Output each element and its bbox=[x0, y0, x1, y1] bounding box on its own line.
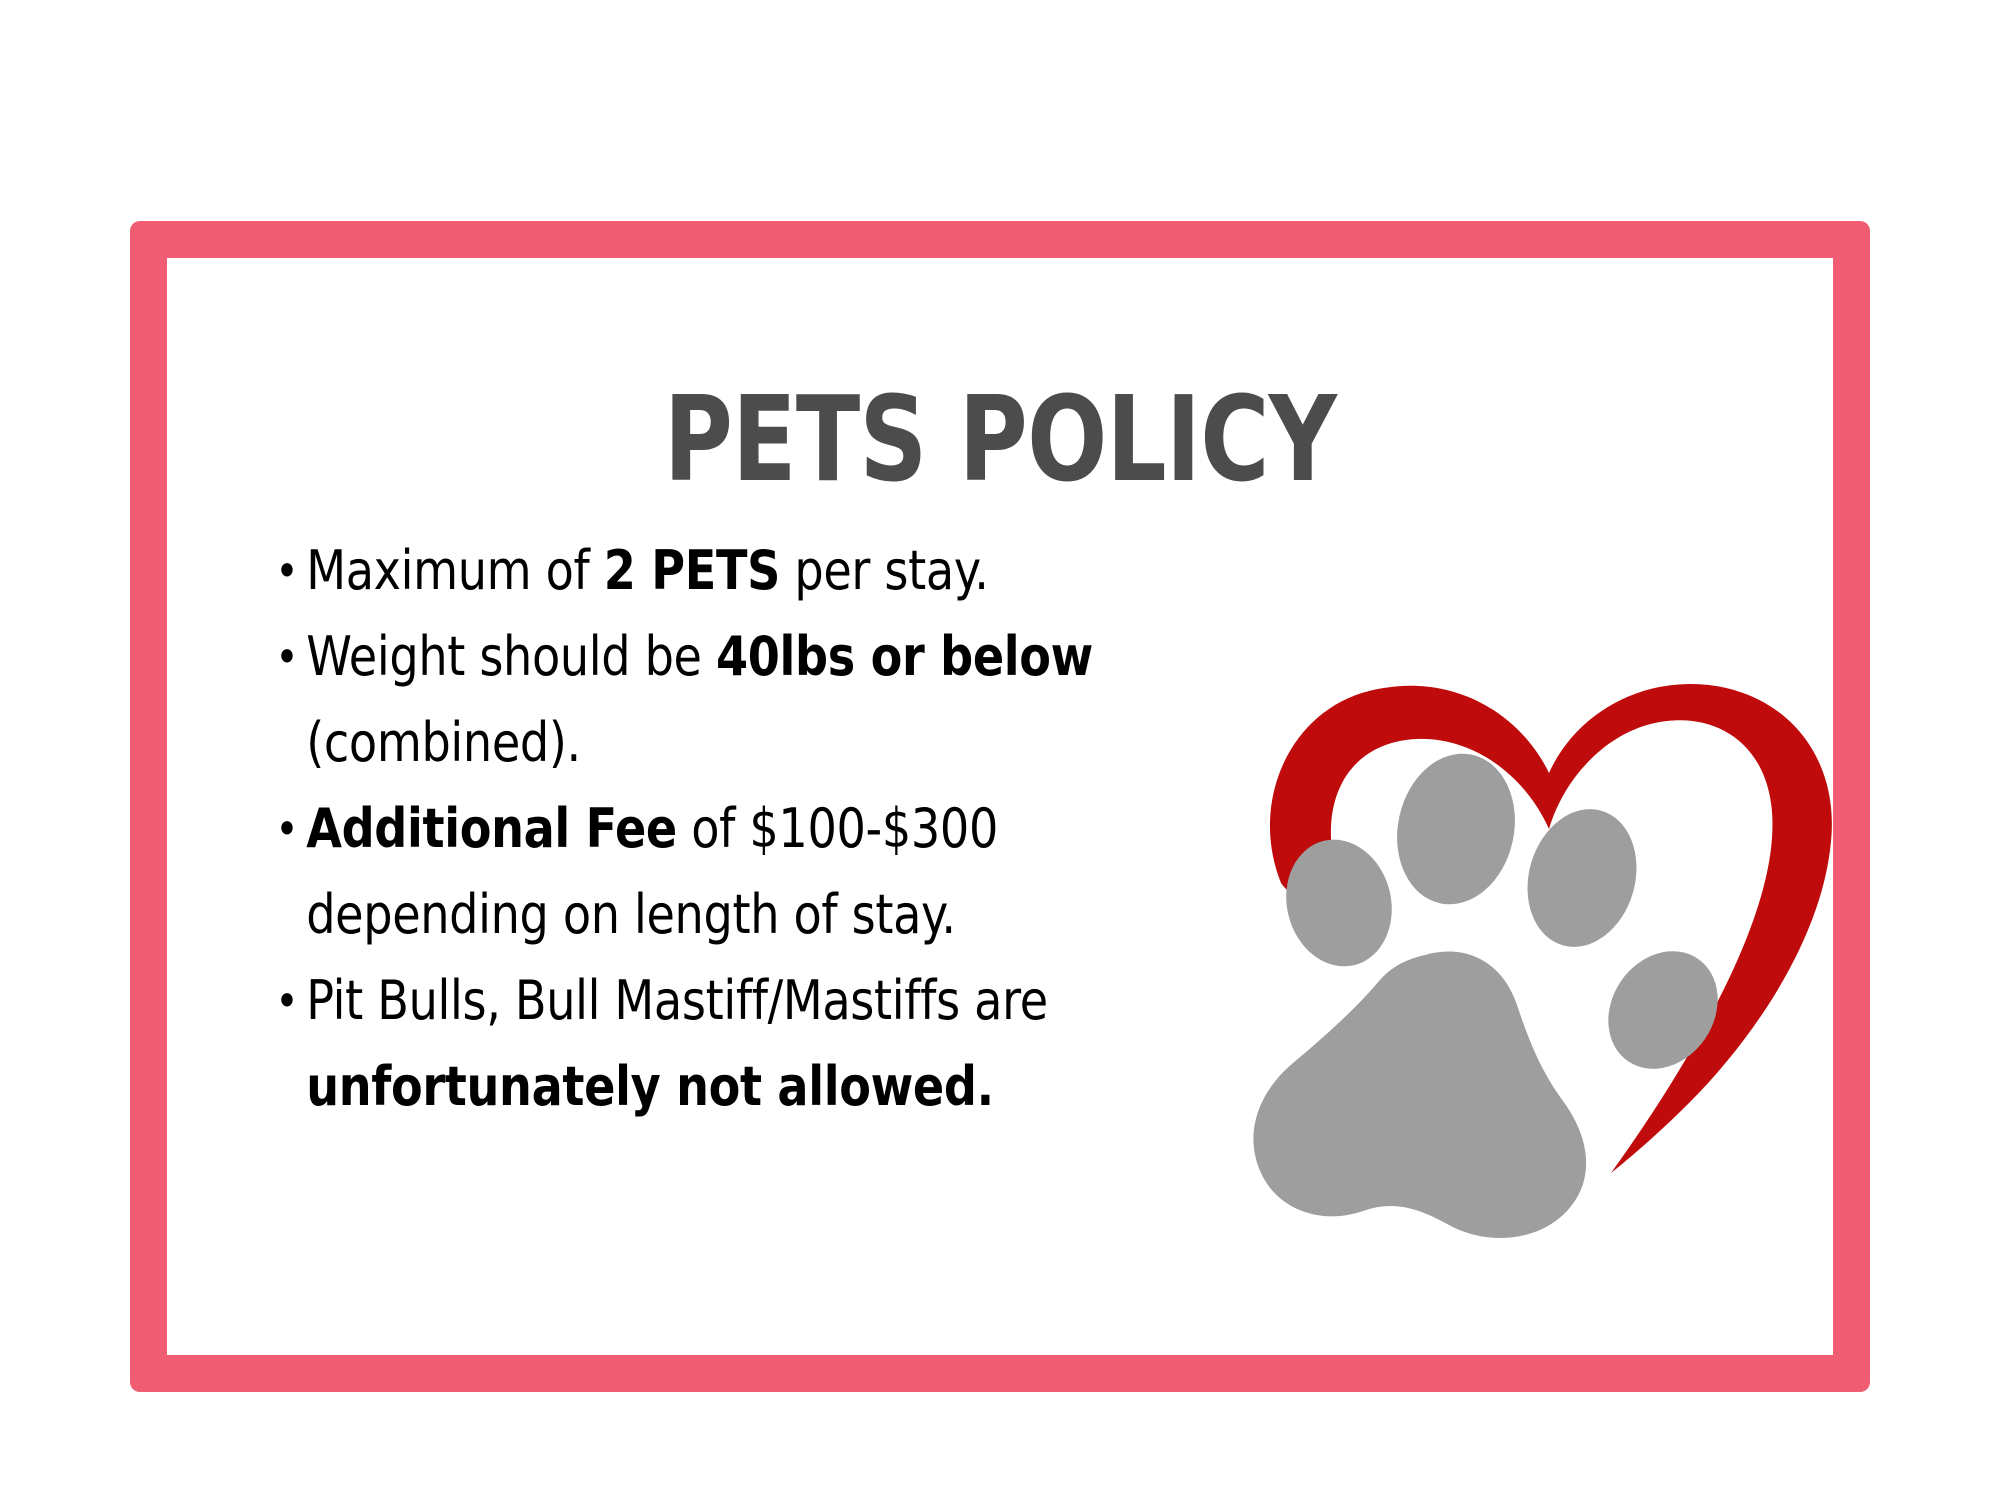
list-item-text-part: per stay. bbox=[780, 539, 988, 602]
paw-main-pad bbox=[1253, 952, 1586, 1238]
bullet-point-icon: • bbox=[275, 958, 296, 1044]
poster-frame-inner: PETS POLICY •Maximum of 2 PETS per stay.… bbox=[167, 258, 1833, 1355]
bullet-point-icon: • bbox=[275, 614, 296, 700]
heart-paw-icon bbox=[1219, 633, 1859, 1253]
list-item-text-emphasis: Additional Fee bbox=[306, 797, 677, 860]
poster-frame: PETS POLICY •Maximum of 2 PETS per stay.… bbox=[130, 221, 1870, 1392]
list-item-text-part: Pit Bulls, Bull Mastiff/Mastiffs are bbox=[306, 969, 1048, 1032]
pets-policy-poster: PETS POLICY •Maximum of 2 PETS per stay.… bbox=[0, 0, 2000, 1500]
list-item-text-emphasis: 2 PETS bbox=[604, 539, 780, 602]
list-item: •Weight should be 40lbs or below (combin… bbox=[272, 614, 1212, 786]
list-item-text-part: (combined). bbox=[306, 711, 581, 774]
list-item-text-part: Weight should be bbox=[306, 625, 716, 688]
bullet-point-icon: • bbox=[275, 528, 296, 614]
policy-list: •Maximum of 2 PETS per stay. •Weight sho… bbox=[272, 528, 1177, 1130]
list-item-text-emphasis: unfortunately not allowed. bbox=[306, 1055, 994, 1118]
paw-toe-pad-inner-right bbox=[1512, 796, 1652, 960]
page-title: PETS POLICY bbox=[334, 379, 1667, 499]
bullet-point-icon: • bbox=[275, 786, 296, 872]
list-item: •Additional Fee of $100-$300 depending o… bbox=[272, 786, 1212, 958]
list-item-text-part: Maximum of bbox=[306, 539, 604, 602]
list-item-text-emphasis: 40lbs or below bbox=[716, 625, 1093, 688]
list-item: •Maximum of 2 PETS per stay. bbox=[272, 528, 1212, 614]
list-item: •Pit Bulls, Bull Mastiff/Mastiffs are un… bbox=[272, 958, 1212, 1130]
